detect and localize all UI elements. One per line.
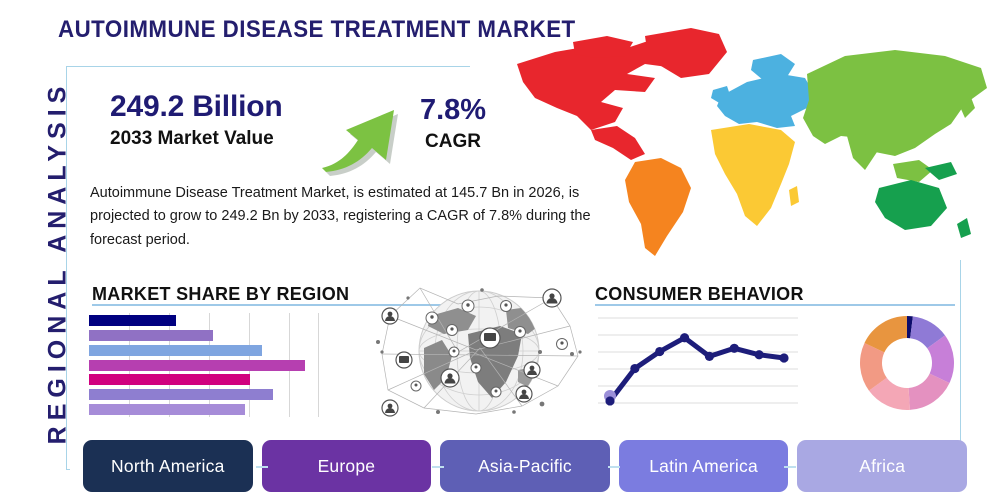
- map-region-europe: [717, 74, 813, 128]
- region-connector-2: [432, 466, 444, 468]
- donut-slices: [860, 316, 954, 410]
- line-point: [605, 396, 614, 405]
- infographic-canvas: AUTOIMMUNE DISEASE TREATMENT MARKET REGI…: [0, 0, 1000, 500]
- region-button-north-america[interactable]: North America: [83, 440, 253, 492]
- map-region-mexico-camerica: [591, 126, 645, 160]
- region-button-label: Asia-Pacific: [478, 456, 572, 477]
- consumer-behavior-line-chart: [598, 310, 798, 415]
- region-button-label: Latin America: [649, 456, 758, 477]
- cagr-label: CAGR: [408, 132, 498, 151]
- global-network-globe-icon: [372, 282, 587, 420]
- section-heading-consumer-behavior: CONSUMER BEHAVIOR: [595, 284, 804, 305]
- bar-row: [89, 404, 245, 415]
- map-region-new-guinea: [925, 162, 957, 180]
- bar-row: [89, 374, 250, 385]
- line-chart-gridlines: [598, 318, 798, 403]
- bar-row: [89, 330, 213, 341]
- region-button-label: North America: [111, 456, 224, 477]
- region-button-asia-pacific[interactable]: Asia-Pacific: [440, 440, 610, 492]
- region-connector-4: [784, 466, 796, 468]
- region-button-label: Africa: [859, 456, 905, 477]
- region-button-africa[interactable]: Africa: [797, 440, 967, 492]
- line-point: [630, 364, 639, 373]
- market-share-bar-chart: [89, 313, 319, 417]
- region-button-label: Europe: [318, 456, 376, 477]
- region-button-europe[interactable]: Europe: [262, 440, 432, 492]
- line-point: [655, 347, 664, 356]
- map-region-australia: [875, 180, 947, 230]
- line-point: [730, 344, 739, 353]
- growth-arrow-icon: [316, 84, 408, 176]
- region-connector-3: [608, 466, 620, 468]
- market-distribution-donut-chart: [852, 308, 962, 418]
- line-point: [680, 333, 689, 342]
- map-region-africa: [711, 124, 795, 226]
- region-button-row: North AmericaEuropeAsia-PacificLatin Ame…: [83, 440, 967, 492]
- bar-row: [89, 315, 176, 326]
- market-description: Autoimmune Disease Treatment Market, is …: [90, 182, 595, 252]
- bar-row: [89, 389, 273, 400]
- cagr-value: 7.8%: [408, 96, 498, 125]
- cagr-stat: 7.8% CAGR: [408, 96, 498, 151]
- map-region-greenland: [645, 28, 727, 78]
- map-region-new-zealand: [957, 218, 971, 238]
- bar-row: [89, 345, 262, 356]
- section-heading-market-share: MARKET SHARE BY REGION: [92, 284, 349, 305]
- map-region-india: [847, 134, 877, 170]
- line-point: [779, 353, 788, 362]
- map-region-south-america: [625, 158, 691, 256]
- map-region-canada-islands: [573, 36, 633, 58]
- map-region-madagascar: [789, 186, 799, 206]
- region-button-latin-america[interactable]: Latin America: [619, 440, 789, 492]
- region-connector-1: [256, 466, 268, 468]
- map-region-sea-islands: [893, 160, 933, 182]
- section-rule-consumer-behavior: [595, 304, 955, 306]
- bar-row: [89, 360, 305, 371]
- line-point: [705, 352, 714, 361]
- line-point: [755, 350, 764, 359]
